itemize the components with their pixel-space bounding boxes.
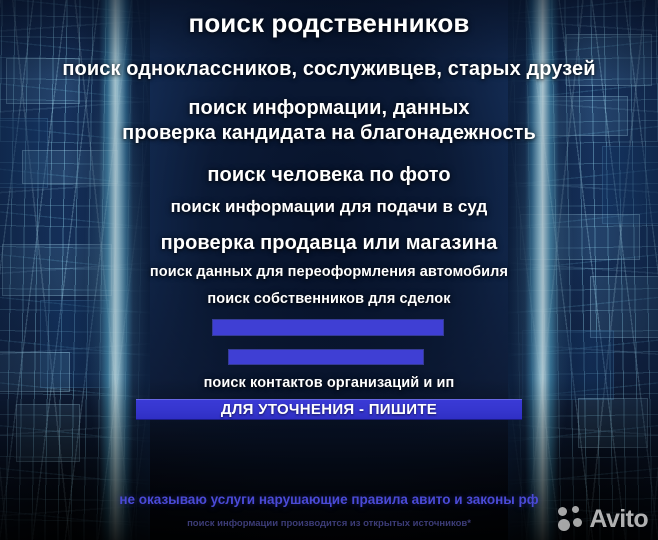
- avito-watermark: Avito: [558, 506, 648, 532]
- service-owners-search: поиск собственников для сделок: [0, 291, 658, 307]
- avito-listing-image: поиск родственников поиск одноклассников…: [0, 0, 658, 540]
- redaction-bar-1: [213, 320, 443, 335]
- service-photo-search: поиск человека по фото: [0, 164, 658, 187]
- cta-write-for-details[interactable]: ДЛЯ УТОЧНЕНИЯ - ПИШИТЕ: [136, 399, 522, 420]
- avito-dots-icon: [558, 506, 584, 532]
- service-court-info-search: поиск информации для подачи в суд: [0, 197, 658, 217]
- service-info-data-search: поиск информации, данных: [0, 97, 658, 120]
- heading-relatives-search: поиск родственников: [0, 8, 658, 39]
- avito-wordmark: Avito: [589, 507, 648, 532]
- service-seller-check: проверка продавца или магазина: [0, 232, 658, 255]
- service-classmates-search: поиск одноклассников, сослуживцев, стары…: [0, 58, 658, 81]
- cta-label: ДЛЯ УТОЧНЕНИЯ - ПИШИТЕ: [221, 401, 437, 418]
- footer-disclaimer: не оказываю услуги нарушающие правила ав…: [0, 492, 658, 507]
- poster-content: поиск родственников поиск одноклассников…: [0, 0, 658, 540]
- service-org-contacts-search: поиск контактов организаций и ип: [0, 375, 658, 391]
- redaction-bar-2: [229, 350, 423, 364]
- service-candidate-check: проверка кандидата на благонадежность: [0, 122, 658, 145]
- service-car-reregistration: поиск данных для переоформления автомоби…: [0, 264, 658, 280]
